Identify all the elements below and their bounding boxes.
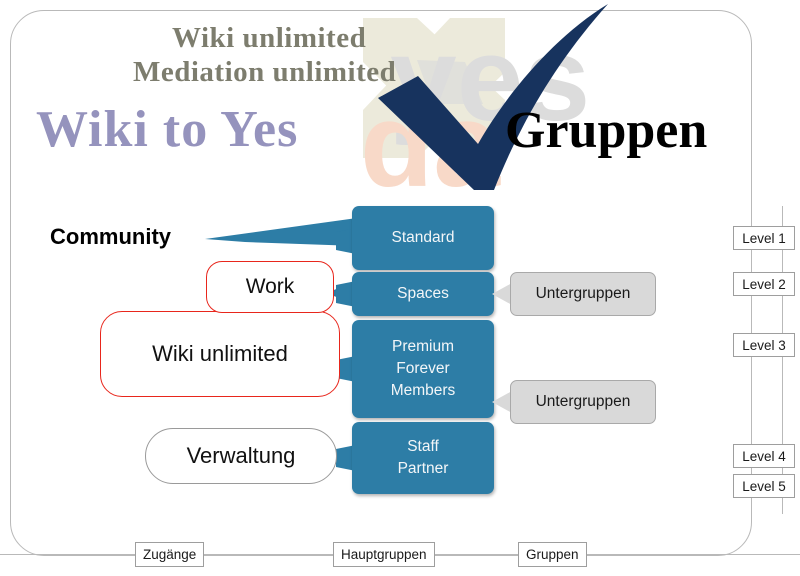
main-group-label-line1: Premium bbox=[392, 336, 454, 358]
axis-label: Gruppen bbox=[526, 547, 579, 562]
subgroup-label: Untergruppen bbox=[536, 285, 631, 303]
access-callout-work[interactable]: Work bbox=[206, 261, 334, 313]
level-label: Level 1 bbox=[742, 231, 786, 246]
callout-label: Wiki unlimited bbox=[152, 341, 288, 367]
axis-label: Hauptgruppen bbox=[341, 547, 427, 562]
level-marker-1: Level 1 bbox=[733, 226, 795, 250]
callout-label: Verwaltung bbox=[187, 443, 296, 469]
level-marker-4: Level 4 bbox=[733, 444, 795, 468]
level-label: Level 5 bbox=[742, 479, 786, 494]
main-group-label-line1: Staff bbox=[407, 436, 439, 458]
level-label: Level 2 bbox=[742, 277, 786, 292]
callout-label: Work bbox=[246, 275, 295, 299]
main-group-spaces[interactable]: Spaces bbox=[352, 272, 494, 316]
level-label: Level 4 bbox=[742, 449, 786, 464]
main-group-label-line3: Members bbox=[391, 380, 456, 402]
subgroup-spaces-tail bbox=[492, 283, 512, 305]
main-group-label-line2: Partner bbox=[398, 458, 449, 480]
subgroup-label: Untergruppen bbox=[536, 393, 631, 411]
access-callout-wiki-unlimited[interactable]: Wiki unlimited bbox=[100, 311, 340, 397]
main-group-staff[interactable]: Staff Partner bbox=[352, 422, 494, 494]
level-marker-2: Level 2 bbox=[733, 272, 795, 296]
community-connector-arrow bbox=[205, 216, 357, 248]
level-marker-3: Level 3 bbox=[733, 333, 795, 357]
brand-wordmark: Wiki to Yes bbox=[36, 100, 298, 159]
axis-label-hauptgruppen: Hauptgruppen bbox=[333, 542, 435, 567]
subgroup-spaces[interactable]: Untergruppen bbox=[510, 272, 656, 316]
axis-label-gruppen: Gruppen bbox=[518, 542, 587, 567]
main-group-premium[interactable]: Premium Forever Members bbox=[352, 320, 494, 418]
subgroup-premium[interactable]: Untergruppen bbox=[510, 380, 656, 424]
axis-label-zugaenge: Zugänge bbox=[135, 542, 204, 567]
page-title: Gruppen bbox=[505, 101, 707, 160]
subgroup-premium-tail bbox=[492, 391, 512, 413]
main-group-label: Standard bbox=[392, 227, 455, 249]
main-group-label-line2: Forever bbox=[396, 358, 449, 380]
axis-label: Zugänge bbox=[143, 547, 196, 562]
main-group-standard[interactable]: Standard bbox=[352, 206, 494, 270]
access-callout-verwaltung[interactable]: Verwaltung bbox=[145, 428, 337, 484]
access-callout-community[interactable]: Community bbox=[50, 224, 171, 250]
main-group-label: Spaces bbox=[397, 283, 449, 305]
level-label: Level 3 bbox=[742, 338, 786, 353]
level-marker-5: Level 5 bbox=[733, 474, 795, 498]
